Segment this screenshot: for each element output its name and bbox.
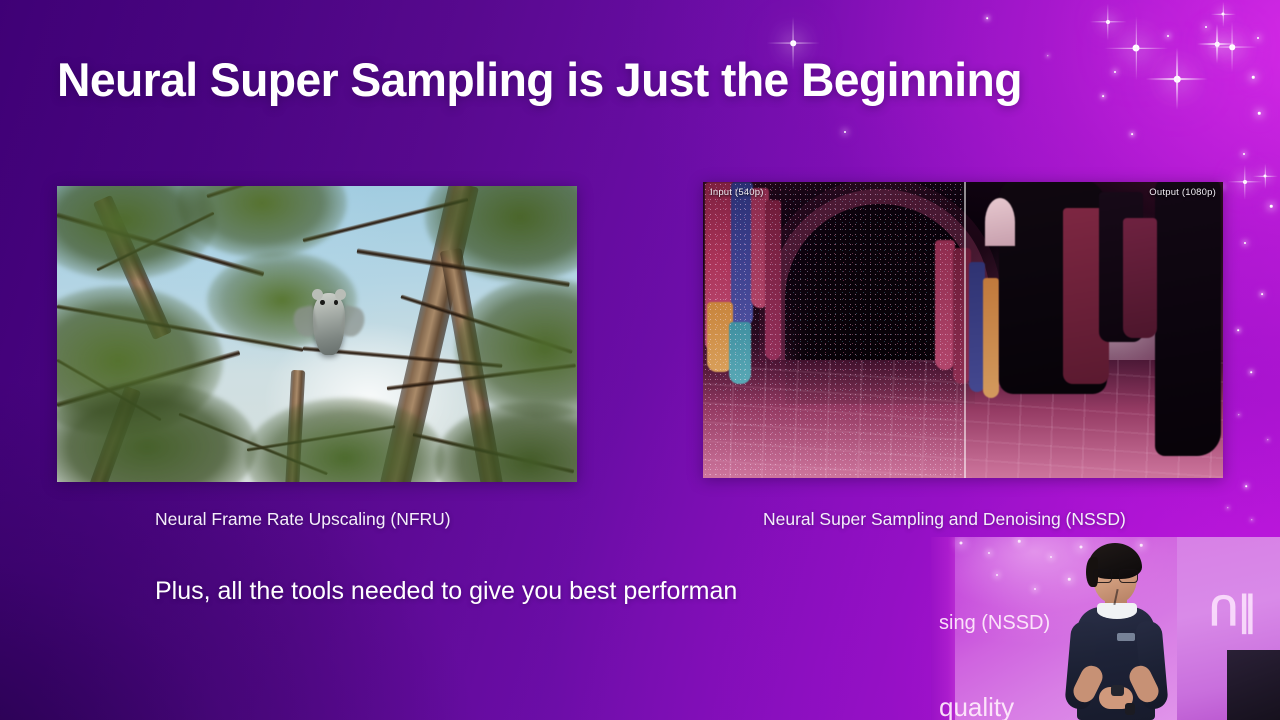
stage-logo: ꓵ∥	[1209, 589, 1256, 635]
sparkle-star	[1250, 371, 1252, 373]
hanging-drape	[765, 200, 781, 360]
hanging-drape	[1123, 218, 1157, 338]
sparkle-star	[1106, 20, 1110, 24]
sparkle-flare-vertical	[1244, 165, 1245, 200]
sparkle-star	[1258, 112, 1261, 115]
sparkle-star	[1243, 153, 1245, 155]
sparkle-flare-horizontal	[1210, 13, 1235, 14]
sparkle-star	[844, 131, 846, 133]
sparkle-star	[1251, 519, 1252, 520]
sparkle-star	[1102, 95, 1104, 97]
hanging-drape	[729, 322, 751, 384]
hanging-drape	[731, 182, 753, 327]
sparkle-star	[986, 17, 988, 19]
sparkle-star	[1167, 35, 1169, 37]
sparkle-flare-horizontal	[1090, 21, 1127, 22]
sparkle-star	[1222, 13, 1225, 16]
sparkle-star	[1229, 44, 1235, 50]
sparkle-star	[1133, 45, 1140, 52]
sparkle-flare-horizontal	[1228, 181, 1263, 182]
projected-sparkle	[1034, 588, 1036, 590]
sparkle-star	[1261, 293, 1263, 295]
presentation-clicker	[1111, 685, 1124, 696]
sparkle-star	[1257, 37, 1259, 39]
presenter-shirt-logo	[1117, 633, 1135, 641]
sparkle-star	[1237, 329, 1239, 331]
projected-sparkle	[996, 574, 998, 576]
nssd-demo-image[interactable]: Input (540p) Output (1080p)	[703, 182, 1223, 478]
hanging-drape	[985, 198, 1015, 246]
projected-text-fragment-2: sing (NSSD)	[939, 612, 1050, 635]
sparkle-star	[1267, 439, 1268, 440]
sparkle-star	[1215, 42, 1220, 47]
sparkle-flare-vertical	[1107, 4, 1108, 41]
projected-text-fragment-3: quality	[939, 692, 1014, 720]
sparkle-star	[1227, 507, 1228, 508]
hanging-drape	[935, 240, 955, 370]
sparkle-star	[1238, 414, 1239, 415]
glasses-icon	[1093, 569, 1138, 581]
sparkle-star	[1245, 485, 1247, 487]
presenter-collar	[1097, 603, 1137, 619]
caption-nssd: Neural Super Sampling and Denoising (NSS…	[763, 509, 1126, 530]
slide-bottom-text: Plus, all the tools needed to give you b…	[155, 577, 737, 606]
sparkle-star	[1264, 175, 1267, 178]
presentation-slide: Neural Super Sampling is Just the Beginn…	[0, 0, 1280, 720]
sparkle-star	[1270, 205, 1273, 208]
sparkle-star	[1244, 242, 1246, 244]
projected-sparkle	[960, 542, 963, 545]
projected-sparkle	[1018, 540, 1021, 543]
stage-podium	[1227, 650, 1280, 720]
sparkle-flare-horizontal	[767, 42, 820, 43]
input-resolution-label: Input (540p)	[710, 187, 764, 198]
caption-nfru: Neural Frame Rate Upscaling (NFRU)	[155, 509, 451, 530]
sparkle-flare-horizontal	[1104, 47, 1168, 48]
sparkle-star	[790, 40, 796, 46]
hanging-drape	[983, 278, 999, 398]
presenter-figure	[1055, 539, 1175, 720]
sparkle-flare-vertical	[1222, 1, 1223, 26]
sparkle-flare-horizontal	[1207, 46, 1258, 47]
split-screen-divider[interactable]	[964, 182, 966, 478]
sparkle-flare-vertical	[1216, 24, 1217, 63]
sparkle-flare-vertical	[1231, 22, 1232, 73]
sparkle-star	[1114, 71, 1116, 73]
sparkle-flare-horizontal	[1146, 78, 1208, 79]
flying-squirrel	[313, 293, 345, 355]
sparkle-flare-vertical	[1264, 163, 1265, 188]
projected-sparkle	[1050, 556, 1052, 558]
sparkle-star	[1047, 55, 1048, 56]
wristwatch	[1125, 703, 1135, 715]
nfru-demo-image[interactable]	[57, 186, 577, 482]
presenter-video-overlay[interactable]: n sing (NSSD) quality ꓵ∥	[931, 537, 1280, 720]
sparkle-star	[1174, 76, 1181, 83]
sparkle-flare-horizontal	[1252, 175, 1277, 176]
projected-sparkle	[988, 552, 990, 554]
sparkle-star	[1243, 180, 1247, 184]
hanging-drape	[1155, 182, 1221, 456]
sparkle-flare-vertical	[1135, 16, 1136, 80]
sparkle-star	[1205, 26, 1207, 28]
sparkle-star	[1131, 133, 1133, 135]
output-resolution-label: Output (1080p)	[1149, 187, 1216, 198]
sparkle-flare-vertical	[1176, 48, 1177, 110]
sparkle-star	[1252, 76, 1255, 79]
squirrel-ear-right	[335, 289, 346, 300]
slide-title: Neural Super Sampling is Just the Beginn…	[57, 52, 1022, 107]
squirrel-ear-left	[312, 289, 323, 300]
sparkle-flare-horizontal	[1197, 43, 1236, 44]
